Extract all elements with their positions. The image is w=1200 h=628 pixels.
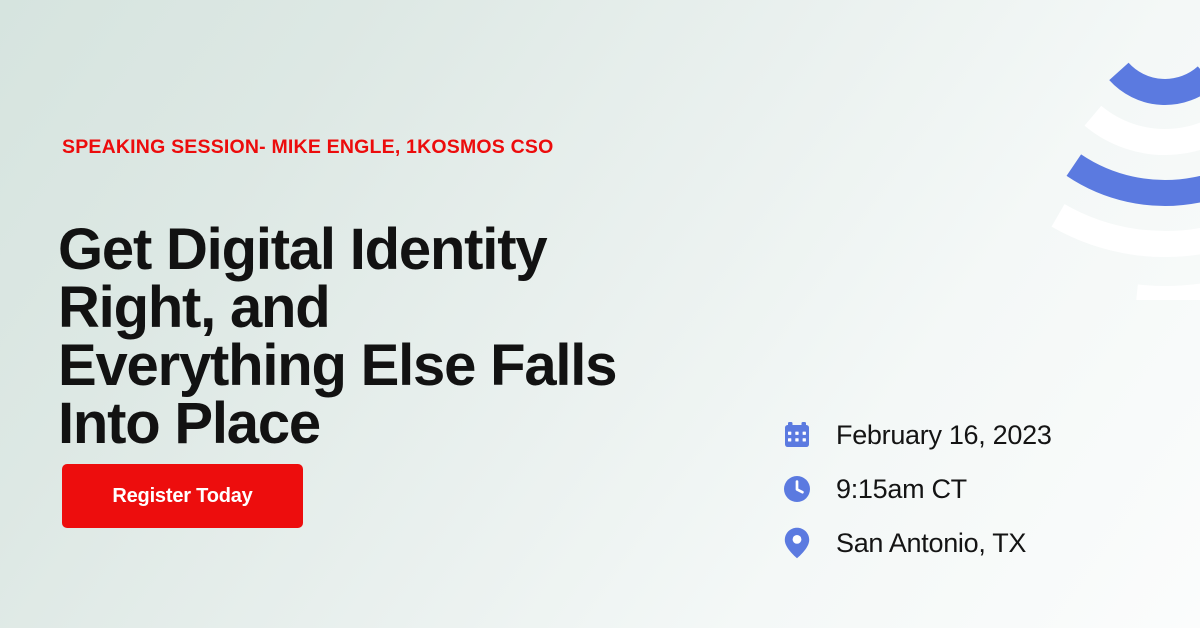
concentric-arcs-graphic [780,0,1200,300]
headline-line-4: Into Place [58,395,616,453]
arc-white-mid-inner [1007,0,1200,188]
detail-row-time: 9:15am CT [782,462,1162,516]
eyebrow-label: SPEAKING SESSION- MIKE ENGLE, 1KOSMOS CS… [62,136,553,159]
arc-white-outer [791,0,1200,300]
headline-line-3: Everything Else Falls [58,337,616,395]
location-pin-icon [782,527,812,559]
event-time-text: 9:15am CT [836,474,967,505]
arc-white-mid-outer [873,0,1200,300]
event-details-list: February 16, 2023 9:15am CT San Antonio,… [782,408,1162,570]
headline-line-1: Get Digital Identity [58,221,616,279]
page-title: Get Digital Identity Right, and Everythi… [58,221,616,453]
event-date-text: February 16, 2023 [836,420,1052,451]
detail-row-date: February 16, 2023 [782,408,1162,462]
promo-banner: SPEAKING SESSION- MIKE ENGLE, 1KOSMOS CS… [0,0,1200,628]
clock-icon [782,473,812,505]
register-today-button[interactable]: Register Today [62,464,303,528]
event-location-text: San Antonio, TX [836,528,1026,559]
arc-blue-inner [1077,0,1200,118]
calendar-icon [782,419,812,451]
headline-line-2: Right, and [58,279,616,337]
arc-blue-mid [939,0,1200,256]
detail-row-location: San Antonio, TX [782,516,1162,570]
